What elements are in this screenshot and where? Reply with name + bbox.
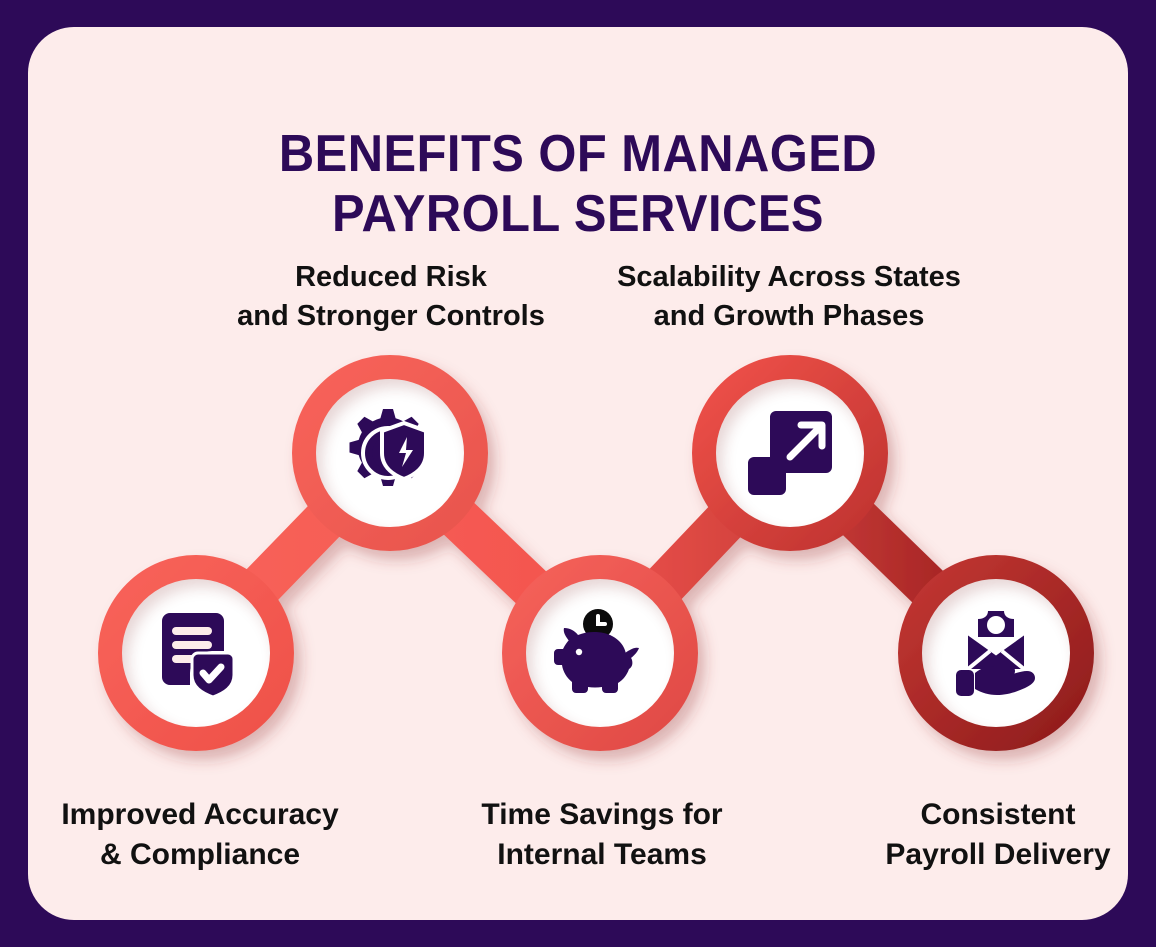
page-title: BENEFITS OF MANAGED PAYROLL SERVICES	[61, 124, 1095, 245]
piggy-bank-clock-icon	[526, 579, 674, 727]
caption-reduced-risk: Reduced Risk and Stronger Controls	[186, 258, 596, 336]
page-title-line-1: BENEFITS OF MANAGED	[61, 124, 1095, 184]
page-title-line-2: PAYROLL SERVICES	[61, 184, 1095, 244]
node-scalability[interactable]	[698, 361, 882, 545]
document-shield-check-icon	[122, 579, 270, 727]
node-improved-accuracy[interactable]	[104, 561, 288, 745]
caption-scalability: Scalability Across States and Growth Pha…	[574, 258, 1004, 336]
node-consistent-delivery[interactable]	[904, 561, 1088, 745]
scale-up-arrow-icon	[716, 379, 864, 527]
infographic-panel: BENEFITS OF MANAGED PAYROLL SERVICES	[28, 27, 1128, 920]
caption-improved-accuracy: Improved Accuracy & Compliance	[28, 795, 372, 875]
gear-shield-bolt-icon	[316, 379, 464, 527]
caption-time-savings: Time Savings for Internal Teams	[430, 795, 774, 875]
node-time-savings[interactable]	[508, 561, 692, 745]
infographic-stage: BENEFITS OF MANAGED PAYROLL SERVICES	[0, 0, 1156, 947]
hand-envelope-money-icon	[922, 579, 1070, 727]
node-reduced-risk[interactable]	[298, 361, 482, 545]
caption-consistent-delivery: Consistent Payroll Delivery	[828, 795, 1156, 875]
